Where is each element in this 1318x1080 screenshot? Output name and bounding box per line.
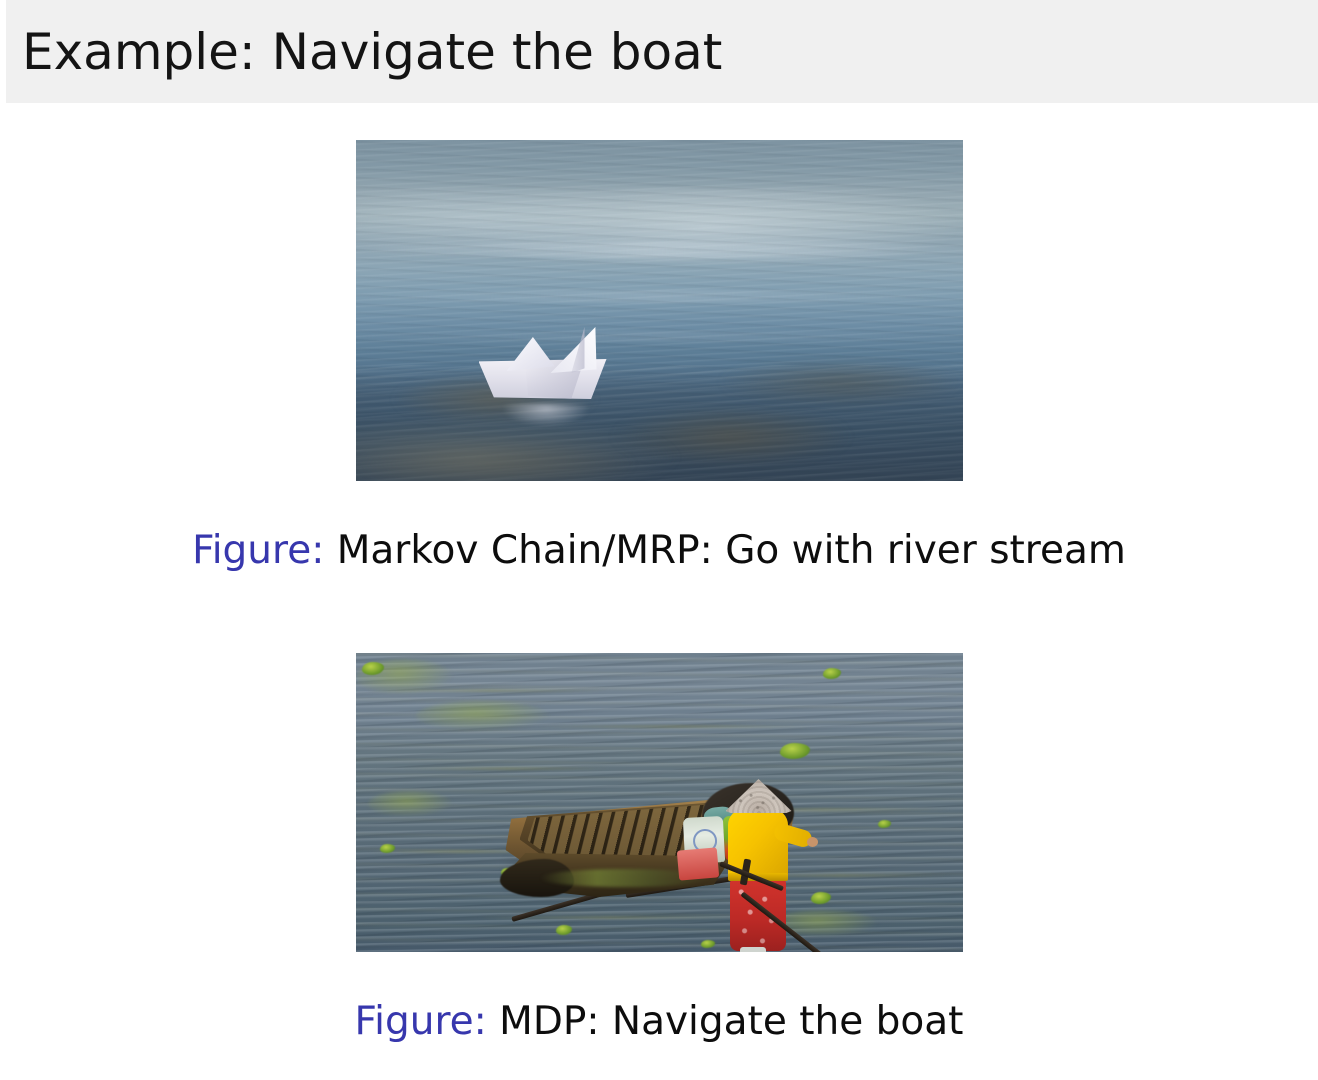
rowing-boat-photo — [356, 653, 963, 952]
figure-caption-text: MDP: Navigate the boat — [499, 999, 963, 1044]
rower-foot — [740, 947, 766, 952]
figure-caption-label: Figure: — [355, 999, 487, 1044]
riverbed-patch — [720, 358, 963, 406]
figure-caption: Figure: MDP: Navigate the boat — [0, 1000, 1318, 1045]
water-streak — [538, 725, 817, 728]
wooden-boat — [506, 741, 796, 901]
slide-header: Example: Navigate the boat — [6, 0, 1318, 103]
boat-fold-left — [507, 337, 555, 371]
figure-caption-label: Figure: — [192, 528, 324, 573]
boat-reflection — [503, 404, 589, 426]
figure-caption-text: Markov Chain/MRP: Go with river stream — [337, 528, 1126, 573]
page-title: Example: Navigate the boat — [22, 27, 722, 77]
water-weed-blur — [416, 701, 550, 731]
figure-block-markov-chain: Figure: Markov Chain/MRP: Go with river … — [0, 140, 1318, 574]
conical-hat-texture — [726, 779, 792, 813]
paper-boat — [479, 332, 609, 407]
paper-boat-photo — [356, 140, 963, 481]
rower-hand — [807, 837, 818, 847]
figure-caption: Figure: Markov Chain/MRP: Go with river … — [0, 529, 1318, 574]
water-weed-blur — [368, 791, 453, 818]
rower-trousers — [730, 879, 786, 951]
figure-block-mdp: Figure: MDP: Navigate the boat — [0, 653, 1318, 1045]
